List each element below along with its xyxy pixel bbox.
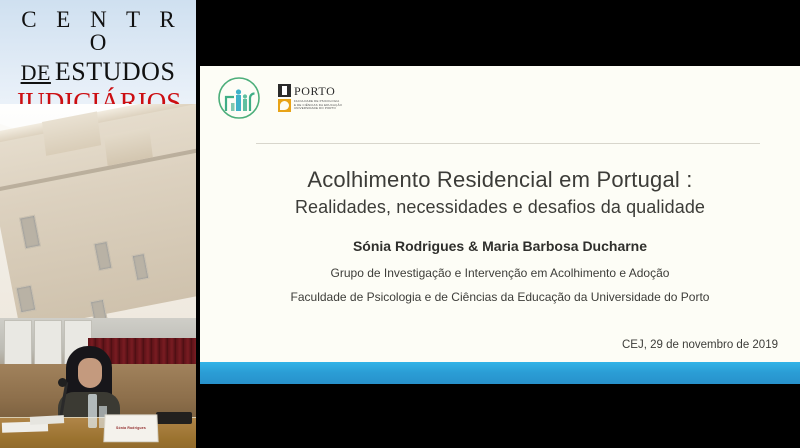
speaker-nameplate-label: Sónia Rodrigues — [116, 426, 146, 430]
video-wall-panel — [34, 320, 62, 366]
uporto-wordmark: PORTO — [294, 85, 335, 97]
presentation-slide: PORTO FACULDADE DE PSICOLOGIA E DE CIÊNC… — [200, 66, 800, 384]
video-wall-panel — [4, 320, 32, 366]
slide-title: Acolhimento Residencial em Portugal : — [200, 166, 800, 194]
slide-accent-bar — [200, 362, 800, 384]
giiaa-circle-logo — [214, 73, 264, 123]
slide-affiliation-institution: Faculdade de Psicologia e de Ciências da… — [200, 290, 800, 304]
cej-branding-panel: C E N T R O DEESTUDOS JUDICIÁRIOS — [0, 0, 196, 318]
cej-logo-line-de-estudos: DEESTUDOS — [0, 59, 196, 85]
slide-date: CEJ, 29 de novembro de 2019 — [622, 339, 778, 351]
uporto-logo: PORTO FACULDADE DE PSICOLOGIA E DE CIÊNC… — [278, 84, 382, 112]
slide-subtitle: Realidades, necessidades e desafios da q… — [200, 197, 800, 218]
slide-divider — [256, 143, 760, 144]
laptop-on-desk — [156, 412, 192, 424]
uporto-u-icon — [278, 84, 291, 97]
microphone-icon — [58, 378, 67, 387]
speaker-nameplate: Sónia Rodrigues — [103, 414, 158, 442]
uporto-faculty-row: FACULDADE DE PSICOLOGIA E DE CIÊNCIAS DA… — [278, 99, 382, 112]
cej-building-photo — [0, 104, 196, 318]
left-column: C E N T R O DEESTUDOS JUDICIÁRIOS — [0, 0, 196, 448]
uporto-wordmark-row: PORTO — [278, 84, 382, 97]
water-bottle — [88, 394, 97, 428]
fpceup-icon — [278, 99, 291, 112]
slide-text-block: Acolhimento Residencial em Portugal : Re… — [200, 166, 800, 304]
cej-logo-line-centro: C E N T R O — [0, 8, 196, 54]
giiaa-icon — [214, 73, 264, 123]
uporto-faculty-text: FACULDADE DE PSICOLOGIA E DE CIÊNCIAS DA… — [294, 100, 342, 112]
speaker-video[interactable]: Sónia Rodrigues — [0, 318, 196, 448]
uporto-faculty-line: UNIVERSIDADE DO PORTO — [294, 107, 342, 111]
slide-logos: PORTO FACULDADE DE PSICOLOGIA E DE CIÊNC… — [214, 70, 382, 126]
cej-logo: C E N T R O DEESTUDOS JUDICIÁRIOS — [0, 8, 196, 116]
slide-stage: PORTO FACULDADE DE PSICOLOGIA E DE CIÊNC… — [196, 0, 800, 448]
cej-logo-estudos: ESTUDOS — [55, 57, 176, 86]
slide-affiliation-group: Grupo de Investigação e Intervenção em A… — [200, 266, 800, 280]
video-player-frame: C E N T R O DEESTUDOS JUDICIÁRIOS — [0, 0, 800, 448]
cej-logo-de: DE — [21, 60, 51, 85]
slide-authors: Sónia Rodrigues & Maria Barbosa Ducharne — [200, 238, 800, 254]
speaker-face — [78, 358, 102, 388]
